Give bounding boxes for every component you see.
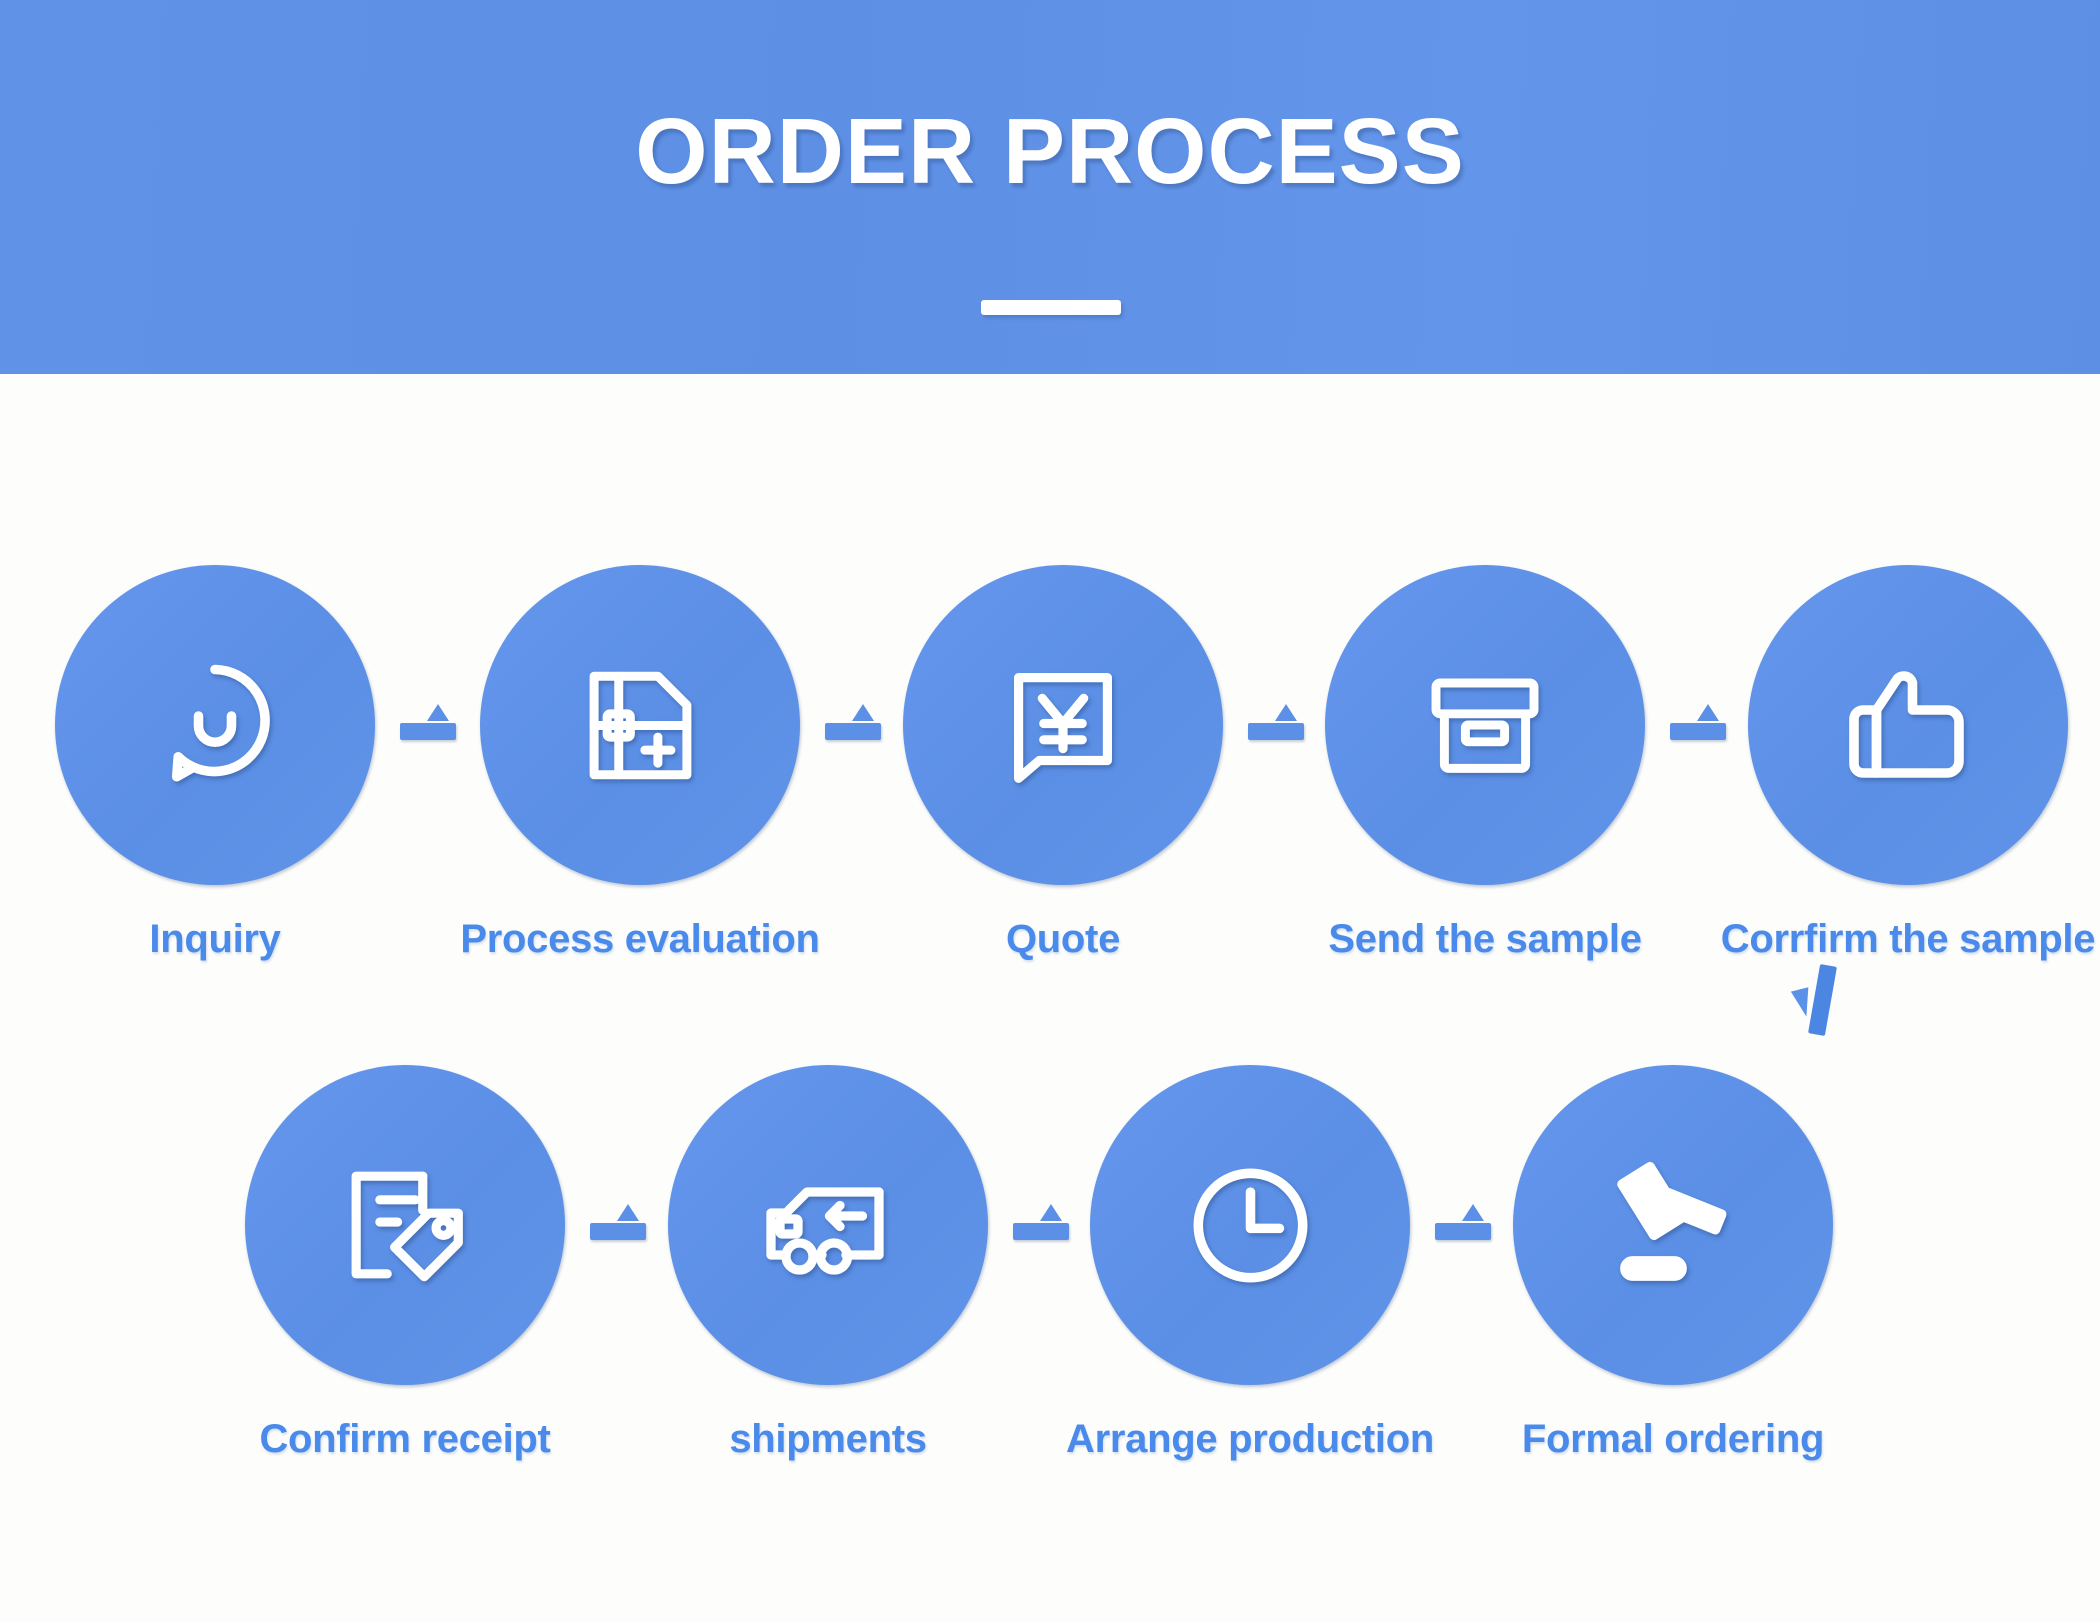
step-label: Corrfirm the sample [1608,917,2100,962]
process-step-confirm-receipt[interactable]: Confirm receipt [245,1065,565,1385]
delivery-truck-icon [753,1150,903,1300]
step-icon-circle[interactable] [668,1065,988,1385]
chat-smile-icon [140,650,290,800]
step-icon-circle[interactable] [1090,1065,1410,1385]
yen-speech-bubble-icon [989,651,1137,799]
connector-arrowhead-icon [852,704,874,721]
connector-bar [1013,1223,1069,1240]
connector-arrowhead-icon [617,1204,639,1221]
connector-arrowhead-icon [1275,704,1297,721]
connector-arrow [590,1200,646,1248]
document-tag-icon [331,1151,479,1299]
step-icon-circle[interactable] [903,565,1223,885]
row-transition-down-arrow-icon [1790,965,1842,1037]
process-step-process-evaluation[interactable]: Process evaluation [480,565,800,885]
step-icon-circle[interactable] [1748,565,2068,885]
connector-bar [590,1223,646,1240]
process-row-1: Inquiry Process evaluation [0,565,2100,895]
connector-arrowhead-icon [1040,1204,1062,1221]
process-step-formal-ordering[interactable]: Formal ordering [1513,1065,1833,1385]
process-step-shipments[interactable]: shipments [668,1065,988,1385]
process-step-send-the-sample[interactable]: Send the sample [1325,565,1645,885]
connector-bar [1670,723,1726,740]
process-step-inquiry[interactable]: Inquiry [55,565,375,885]
thumbs-up-icon [1833,650,1983,800]
step-icon-circle[interactable] [245,1065,565,1385]
blueprint-plus-icon [568,653,713,798]
process-step-arrange-production[interactable]: Arrange production [1090,1065,1410,1385]
connector-arrow [825,700,881,748]
connector-arrow [1435,1200,1491,1248]
step-label: Formal ordering [1373,1417,1973,1462]
process-step-confirm-the-sample[interactable]: Corrfirm the sample [1748,565,2068,885]
header-banner: ORDER PROCESS [0,0,2100,374]
connector-arrow [1670,700,1726,748]
gavel-icon [1598,1150,1748,1300]
step-icon-circle[interactable] [480,565,800,885]
connector-bar [1248,723,1304,740]
connector-bar [400,723,456,740]
connector-bar [825,723,881,740]
connector-arrow [1013,1200,1069,1248]
connector-arrowhead-icon [1462,1204,1484,1221]
arrow-stem [1808,964,1837,1036]
archive-box-icon [1415,655,1555,795]
process-row-2: Confirm receipt shipments [0,1065,2100,1395]
title-divider [981,300,1121,315]
step-icon-circle[interactable] [55,565,375,885]
connector-arrowhead-icon [427,704,449,721]
connector-arrowhead-icon [1697,704,1719,721]
connector-arrow [400,700,456,748]
process-step-quote[interactable]: Quote [903,565,1223,885]
clock-icon [1178,1153,1323,1298]
step-icon-circle[interactable] [1513,1065,1833,1385]
step-icon-circle[interactable] [1325,565,1645,885]
connector-bar [1435,1223,1491,1240]
page-title: ORDER PROCESS [0,105,2100,198]
connector-arrow [1248,700,1304,748]
